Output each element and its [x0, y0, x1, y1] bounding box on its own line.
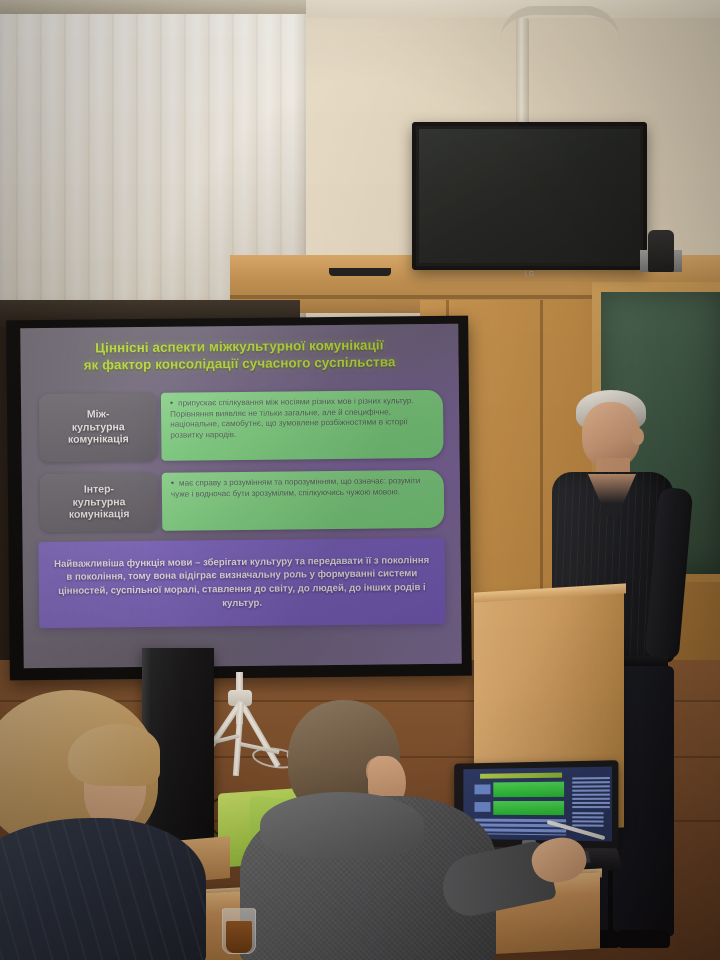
label-line-1: Між-: [87, 408, 110, 420]
slide-row-intercultural-1: Між- культурна комунікація припускає спі…: [39, 390, 444, 462]
student-blonde: [0, 690, 230, 960]
student-hoodie-hood: [260, 792, 424, 858]
label-line-3: комунікація: [68, 434, 129, 447]
lecturer-shoe-right: [618, 930, 670, 948]
slide-bullet-text-2: має справу з розумінням та порозумінням,…: [171, 475, 434, 500]
slide-canvas: Ціннісні аспекти міжкультурної комунікац…: [20, 324, 462, 669]
wall-mounted-tv: LG: [412, 122, 647, 270]
plastic-cup[interactable]: [222, 908, 256, 954]
lecture-hall-photo: LG Ціннісні аспекти міжкультурної комуні…: [0, 0, 720, 960]
student-blonde-jacket: [0, 818, 206, 960]
label-line-1: Інтер-: [84, 483, 114, 495]
slide-row-intercultural-2: Інтер- культурна комунікація має справу …: [40, 470, 445, 532]
laptop-presenter-notes: [572, 777, 610, 808]
slide-bullet-box-2: має справу з розумінням та порозумінням,…: [162, 470, 445, 531]
label-line-2: культурна: [72, 421, 125, 434]
cup-liquid: [226, 921, 252, 953]
label-line-3: комунікація: [69, 509, 130, 522]
slide-label-box-1: Між- культурна комунікація: [39, 393, 158, 462]
tv-stand: [329, 268, 391, 276]
slide-label-box-2: Інтер- культурна комунікація: [40, 473, 159, 532]
slide-conclusion-box: Найважливіша функція мови – зберігати ку…: [38, 538, 445, 628]
slide-conclusion-text: Найважливіша функція мови – зберігати ку…: [51, 554, 434, 612]
projection-screen: Ціннісні аспекти міжкультурної комунікац…: [6, 316, 472, 681]
slide-bullet-text-1: припускає спілкування між носіями різних…: [170, 395, 433, 441]
lecturer-ear: [632, 428, 644, 445]
tv-screen: [419, 129, 640, 263]
tv-brand-label: LG: [524, 271, 534, 278]
blinds-rail: [0, 0, 306, 14]
laptop-presenter-notes-2: [572, 812, 603, 827]
student-hoodie: [246, 700, 516, 960]
slide-title-line-2: як фактор консолідації сучасного суспіль…: [84, 355, 396, 373]
bookshelf-speaker: [648, 230, 674, 272]
slide-title-line-1: Ціннісні аспекти міжкультурної комунікац…: [95, 337, 384, 355]
slide-title: Ціннісні аспекти міжкультурної комунікац…: [34, 336, 444, 375]
student-blonde-fringe: [68, 724, 160, 786]
slide-bullet-box-1: припускає спілкування між носіями різних…: [161, 390, 444, 461]
label-line-2: культурна: [73, 496, 126, 509]
